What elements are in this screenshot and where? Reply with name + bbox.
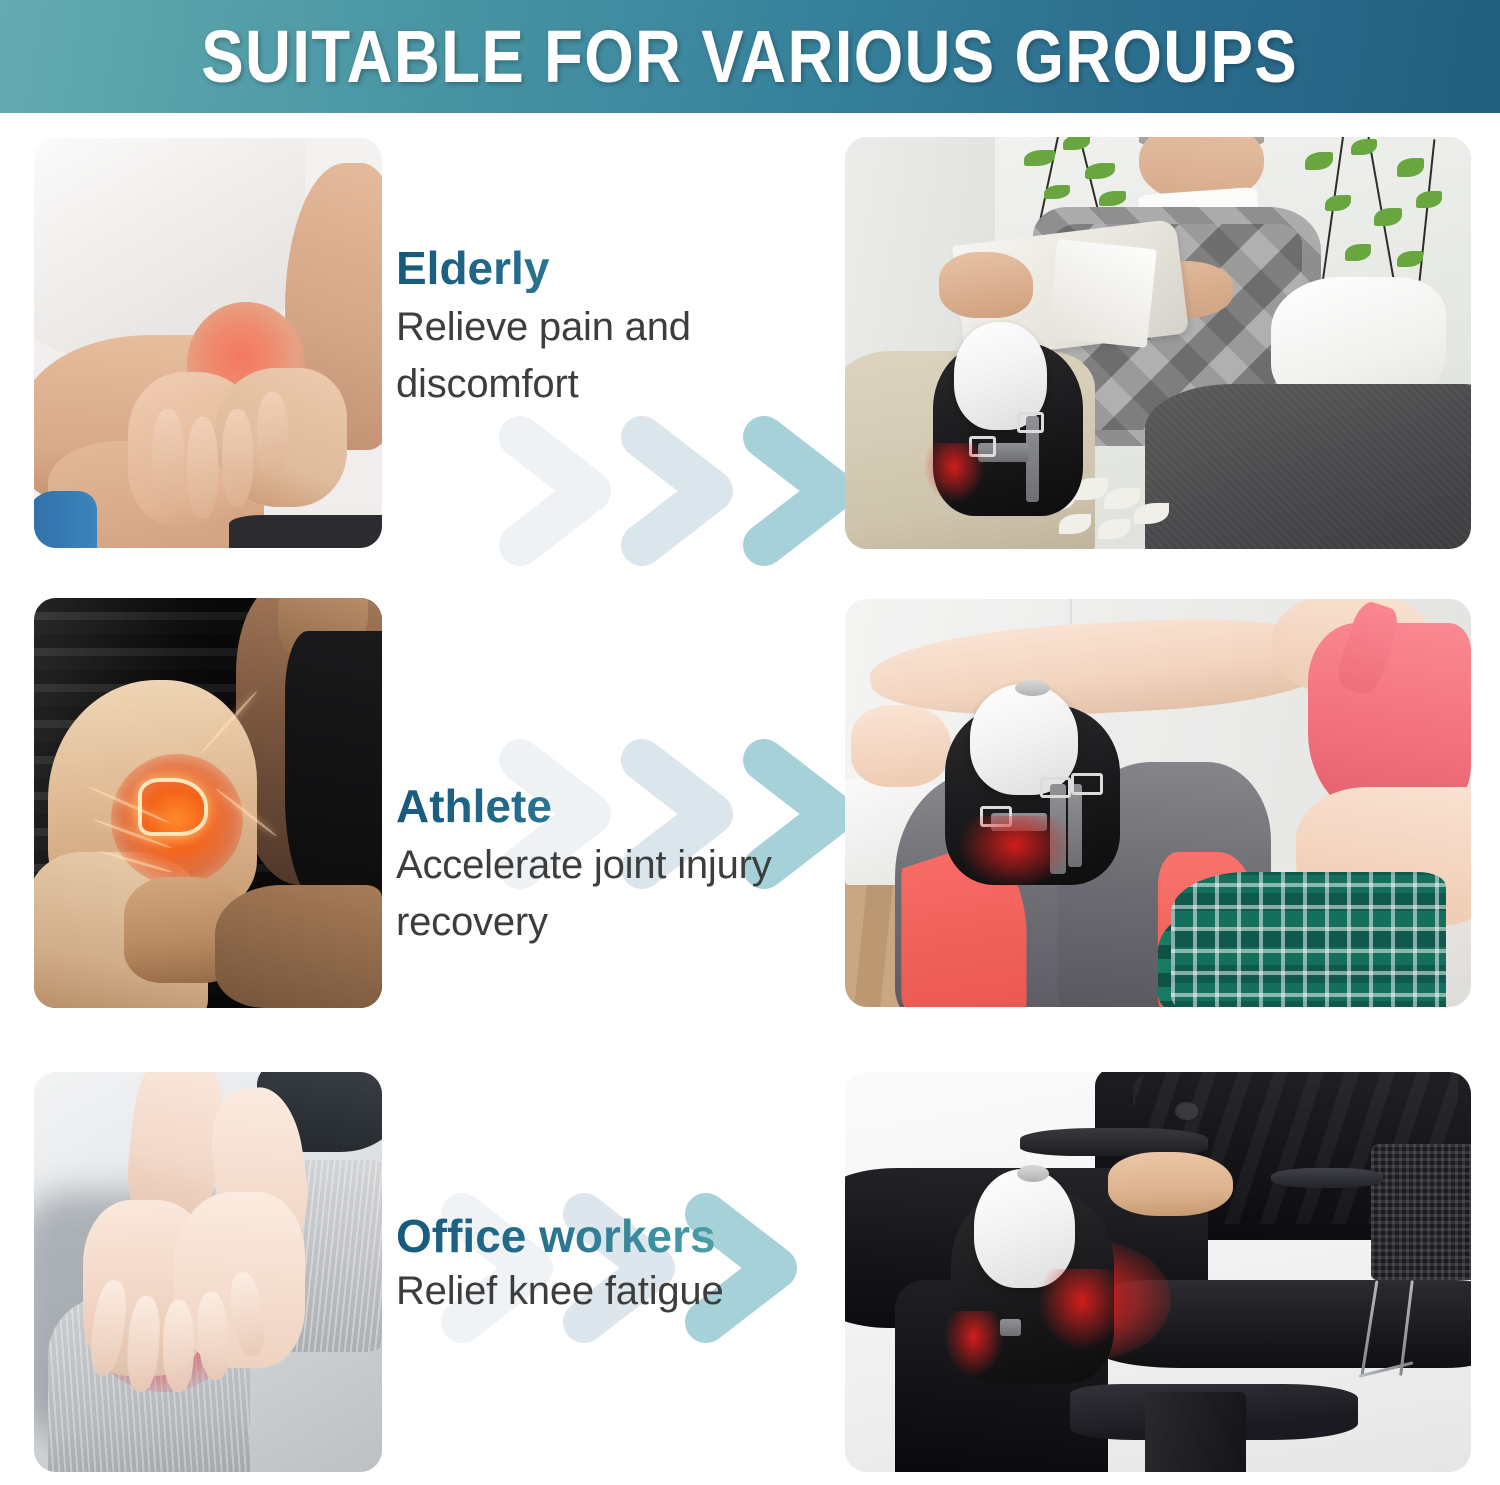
text-block-athlete: Athlete Accelerate joint injury recovery (396, 782, 826, 952)
group-subline-elderly-line-2: discomfort (396, 356, 826, 414)
group-subline-athlete-line-1: Accelerate joint injury (396, 837, 826, 895)
group-subline-elderly-line-1: Relieve pain and (396, 299, 826, 357)
photo-elderly-knee-pain (34, 138, 382, 548)
group-heading-elderly: Elderly (396, 244, 826, 293)
text-block-office-workers: Office workers Relief knee fatigue (396, 1212, 846, 1315)
group-row-athlete: Athlete Accelerate joint injury recovery (0, 598, 1500, 1010)
group-row-office-workers: Office workers Relief knee fatigue (0, 1072, 1500, 1472)
photo-athlete-knee-injury (34, 598, 382, 1008)
product-knee-massager (933, 343, 1083, 516)
group-heading-athlete: Athlete (396, 782, 826, 831)
photo-athlete-using-massager (845, 599, 1471, 1007)
text-block-elderly: Elderly Relieve pain and discomfort (396, 244, 826, 414)
product-knee-massager (951, 1192, 1114, 1384)
group-subline-office-workers-line-1: Relief knee fatigue (396, 1267, 846, 1315)
page-title: SUITABLE FOR VARIOUS GROUPS (202, 14, 1299, 99)
photo-office-worker-using-massager (845, 1072, 1471, 1472)
page-header-banner: SUITABLE FOR VARIOUS GROUPS (0, 0, 1500, 113)
group-heading-office-workers: Office workers (396, 1212, 846, 1261)
product-knee-massager (945, 705, 1120, 885)
group-row-elderly: Elderly Relieve pain and discomfort (0, 137, 1500, 549)
photo-elderly-using-massager (845, 137, 1471, 549)
photo-office-worker-knee-pain (34, 1072, 382, 1472)
chevron-right-icon (498, 415, 648, 567)
chevron-right-icon (620, 415, 770, 567)
group-subline-athlete-line-2: recovery (396, 894, 826, 952)
